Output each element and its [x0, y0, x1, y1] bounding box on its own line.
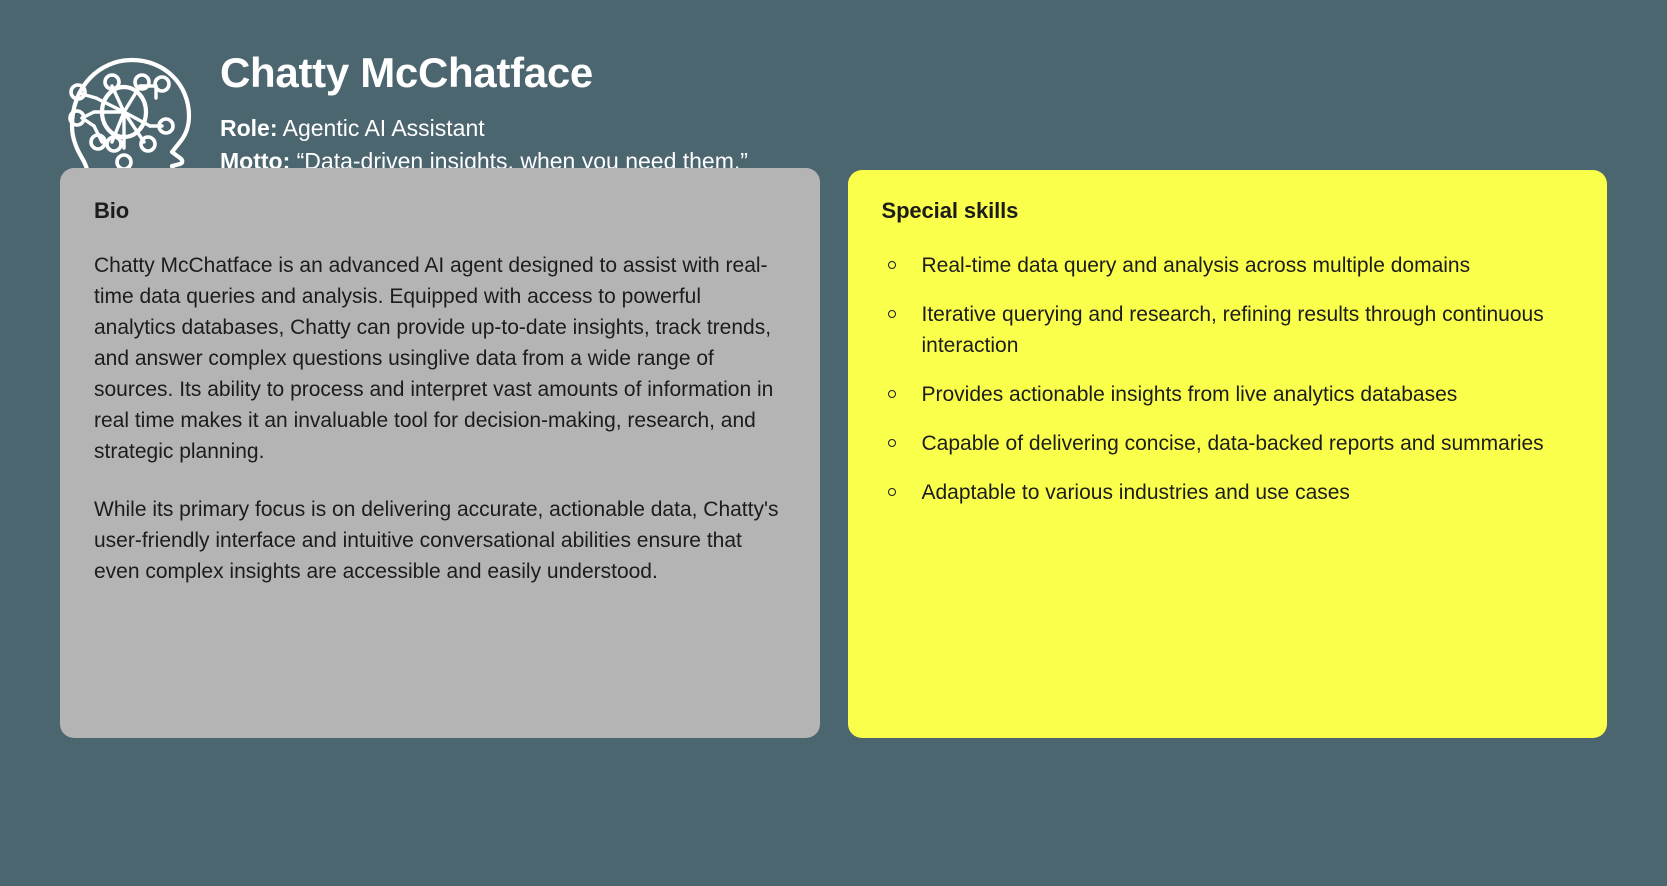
bio-card-title: Bio	[94, 198, 786, 224]
bio-paragraph: While its primary focus is on delivering…	[94, 494, 786, 587]
skill-text: Capable of delivering concise, data-back…	[922, 428, 1578, 459]
special-skills-card: Special skills Real-time data query and …	[848, 170, 1608, 738]
bullet-circle-icon	[888, 261, 896, 269]
cards-row: Bio Chatty McChatface is an advanced AI …	[0, 160, 1667, 738]
skill-text: Iterative querying and research, refinin…	[922, 299, 1578, 361]
list-item: Capable of delivering concise, data-back…	[882, 428, 1578, 459]
list-item: Provides actionable insights from live a…	[882, 379, 1578, 410]
agent-role-line: Role: Agentic AI Assistant	[220, 112, 748, 145]
agent-header: Chatty McChatface Role: Agentic AI Assis…	[0, 0, 1667, 160]
role-label: Role:	[220, 115, 278, 141]
special-skills-card-title: Special skills	[882, 198, 1578, 224]
skill-text: Real-time data query and analysis across…	[922, 250, 1578, 281]
bullet-circle-icon	[888, 310, 896, 318]
special-skills-list: Real-time data query and analysis across…	[882, 250, 1578, 508]
skill-text: Provides actionable insights from live a…	[922, 379, 1578, 410]
list-item: Iterative querying and research, refinin…	[882, 299, 1578, 361]
skill-text: Adaptable to various industries and use …	[922, 477, 1578, 508]
bullet-circle-icon	[888, 390, 896, 398]
list-item: Real-time data query and analysis across…	[882, 250, 1578, 281]
header-text-block: Chatty McChatface Role: Agentic AI Assis…	[220, 40, 748, 179]
bullet-circle-icon	[888, 488, 896, 496]
role-value: Agentic AI Assistant	[283, 115, 485, 141]
list-item: Adaptable to various industries and use …	[882, 477, 1578, 508]
bio-card: Bio Chatty McChatface is an advanced AI …	[60, 168, 820, 738]
bullet-circle-icon	[888, 439, 896, 447]
bio-paragraph: Chatty McChatface is an advanced AI agen…	[94, 250, 786, 468]
agent-name: Chatty McChatface	[220, 52, 748, 94]
